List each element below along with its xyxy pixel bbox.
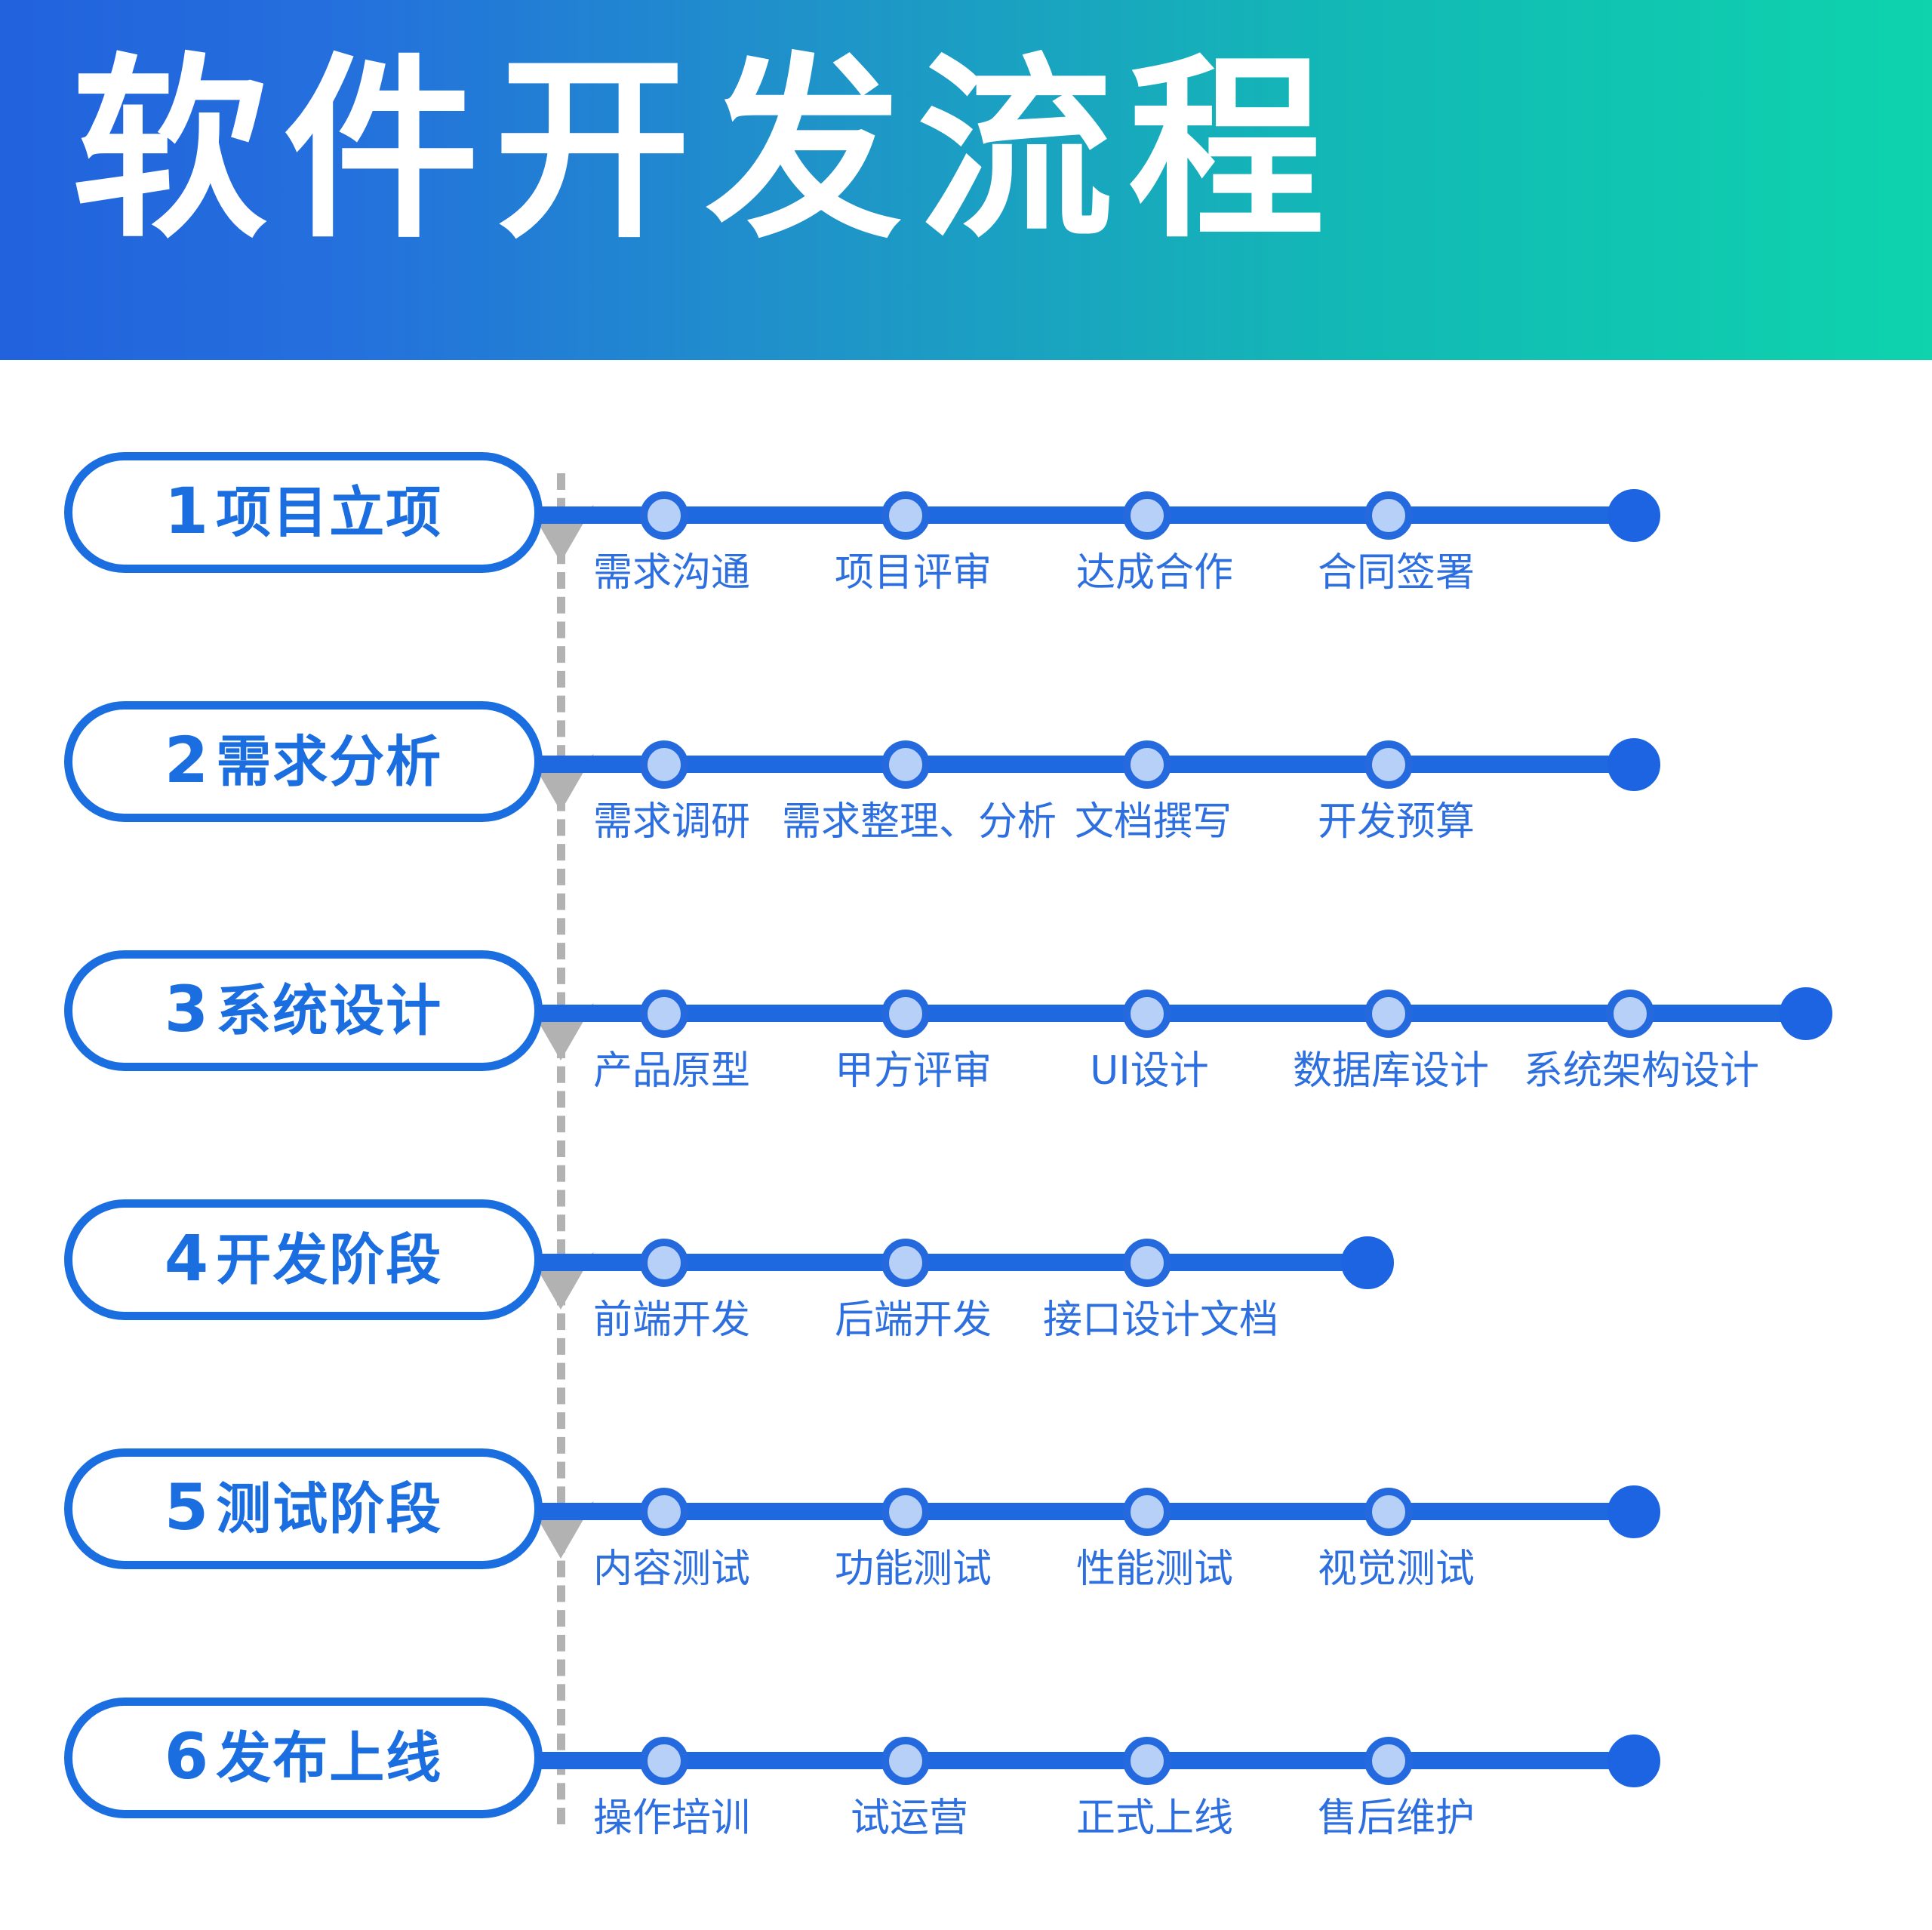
stage-number-6: 6 xyxy=(165,1725,208,1788)
stage-track-2 xyxy=(538,756,1659,773)
stage-pill-6[interactable]: 6 发布上线 xyxy=(64,1698,543,1818)
stage-pill-2[interactable]: 2 需求分析 xyxy=(64,701,543,822)
step-node-2-3[interactable] xyxy=(1123,740,1171,789)
stage-number-1: 1 xyxy=(165,479,208,543)
step-label-5-3: 性能测试 xyxy=(1076,1547,1233,1592)
stage-name-5: 测试阶段 xyxy=(216,1482,442,1537)
step-node-2-end[interactable] xyxy=(1607,738,1660,791)
step-label-1-4: 合同签署 xyxy=(1318,550,1475,596)
stage-number-3: 3 xyxy=(165,977,208,1041)
step-node-6-4[interactable] xyxy=(1364,1737,1413,1785)
step-node-1-end[interactable] xyxy=(1607,489,1660,542)
stage-row-2: 2 需求分析 需求调研 需求整理、分析 文档撰写 开发预算 xyxy=(0,685,1932,934)
stage-number-5: 5 xyxy=(165,1476,208,1539)
stage-pill-4[interactable]: 4 开发阶段 xyxy=(64,1199,543,1320)
step-node-5-2[interactable] xyxy=(881,1488,930,1536)
step-label-3-4: 数据库设计 xyxy=(1293,1048,1489,1094)
stage-pill-3[interactable]: 3 系统设计 xyxy=(64,950,543,1071)
step-node-1-4[interactable] xyxy=(1364,491,1413,540)
stage-track-6 xyxy=(538,1752,1659,1769)
step-label-2-4: 开发预算 xyxy=(1318,799,1475,845)
step-node-6-2[interactable] xyxy=(881,1737,930,1785)
step-label-5-2: 功能测试 xyxy=(835,1547,992,1592)
stage-name-3: 系统设计 xyxy=(216,983,442,1039)
step-label-2-3: 文档撰写 xyxy=(1075,799,1232,845)
stage-name-6: 发布上线 xyxy=(216,1731,442,1786)
step-node-3-3[interactable] xyxy=(1123,990,1171,1038)
stage-name-4: 开发阶段 xyxy=(216,1233,442,1288)
step-node-3-5[interactable] xyxy=(1606,990,1654,1038)
step-label-3-5: 系统架构设计 xyxy=(1524,1048,1759,1094)
step-label-1-3: 达成合作 xyxy=(1076,550,1233,596)
header-banner: 软件开发流程 xyxy=(0,0,1932,360)
stage-row-6: 6 发布上线 操作培训 试运营 正式上线 售后维护 xyxy=(0,1681,1932,1930)
step-label-6-3: 正式上线 xyxy=(1076,1796,1233,1841)
step-label-3-1: 产品原型 xyxy=(593,1048,750,1094)
step-node-3-end[interactable] xyxy=(1780,987,1832,1040)
stage-name-1: 项目立项 xyxy=(216,485,442,540)
stage-row-5: 5 测试阶段 内容测试 功能测试 性能测试 视觉测试 xyxy=(0,1432,1932,1681)
stage-row-1: 1 项目立项 需求沟通 项目评审 达成合作 合同签署 xyxy=(0,436,1932,685)
stage-pill-1[interactable]: 1 项目立项 xyxy=(64,452,543,573)
step-label-6-1: 操作培训 xyxy=(593,1796,750,1841)
step-label-4-1: 前端开发 xyxy=(593,1297,750,1343)
stage-track-5 xyxy=(538,1503,1659,1520)
step-node-4-end[interactable] xyxy=(1341,1236,1394,1289)
step-node-6-3[interactable] xyxy=(1123,1737,1171,1785)
page-title: 软件开发流程 xyxy=(72,38,1340,264)
step-node-4-1[interactable] xyxy=(640,1239,688,1287)
step-node-1-1[interactable] xyxy=(640,491,688,540)
step-label-3-3: UI设计 xyxy=(1090,1048,1208,1094)
step-node-4-3[interactable] xyxy=(1123,1239,1171,1287)
step-label-6-4: 售后维护 xyxy=(1318,1796,1475,1841)
step-label-1-1: 需求沟通 xyxy=(593,550,750,596)
stage-row-3: 3 系统设计 产品原型 甲方评审 UI设计 数据库设计 系统架构设计 xyxy=(0,934,1932,1183)
step-node-4-2[interactable] xyxy=(881,1239,930,1287)
flow-diagram: 1 项目立项 需求沟通 项目评审 达成合作 合同签署 2 需求分析 需求调研 需… xyxy=(0,360,1932,1910)
step-node-3-1[interactable] xyxy=(640,990,688,1038)
stage-track-1 xyxy=(538,506,1659,524)
step-label-2-2: 需求整理、分析 xyxy=(782,799,1057,845)
step-node-5-4[interactable] xyxy=(1364,1488,1413,1536)
step-node-6-end[interactable] xyxy=(1607,1735,1660,1787)
stage-number-4: 4 xyxy=(165,1227,208,1290)
step-node-2-2[interactable] xyxy=(881,740,930,789)
step-label-4-2: 后端开发 xyxy=(835,1297,992,1343)
step-node-5-end[interactable] xyxy=(1607,1485,1660,1538)
stage-name-2: 需求分析 xyxy=(216,734,442,790)
step-node-6-1[interactable] xyxy=(640,1737,688,1785)
step-label-2-1: 需求调研 xyxy=(593,799,750,845)
step-label-5-4: 视觉测试 xyxy=(1318,1547,1475,1592)
step-node-2-4[interactable] xyxy=(1364,740,1413,789)
stage-number-2: 2 xyxy=(165,728,208,792)
stage-pill-5[interactable]: 5 测试阶段 xyxy=(64,1448,543,1569)
step-label-3-2: 甲方评审 xyxy=(835,1048,992,1094)
step-label-4-3: 接口设计文档 xyxy=(1043,1297,1278,1343)
step-node-3-2[interactable] xyxy=(881,990,930,1038)
step-label-5-1: 内容测试 xyxy=(593,1547,750,1592)
stage-row-4: 4 开发阶段 前端开发 后端开发 接口设计文档 xyxy=(0,1183,1932,1432)
step-node-5-3[interactable] xyxy=(1123,1488,1171,1536)
step-node-2-1[interactable] xyxy=(640,740,688,789)
step-node-1-3[interactable] xyxy=(1123,491,1171,540)
step-label-6-2: 试运营 xyxy=(851,1796,968,1841)
step-node-3-4[interactable] xyxy=(1364,990,1413,1038)
step-node-5-1[interactable] xyxy=(640,1488,688,1536)
step-label-1-2: 项目评审 xyxy=(835,550,992,596)
step-node-1-2[interactable] xyxy=(881,491,930,540)
